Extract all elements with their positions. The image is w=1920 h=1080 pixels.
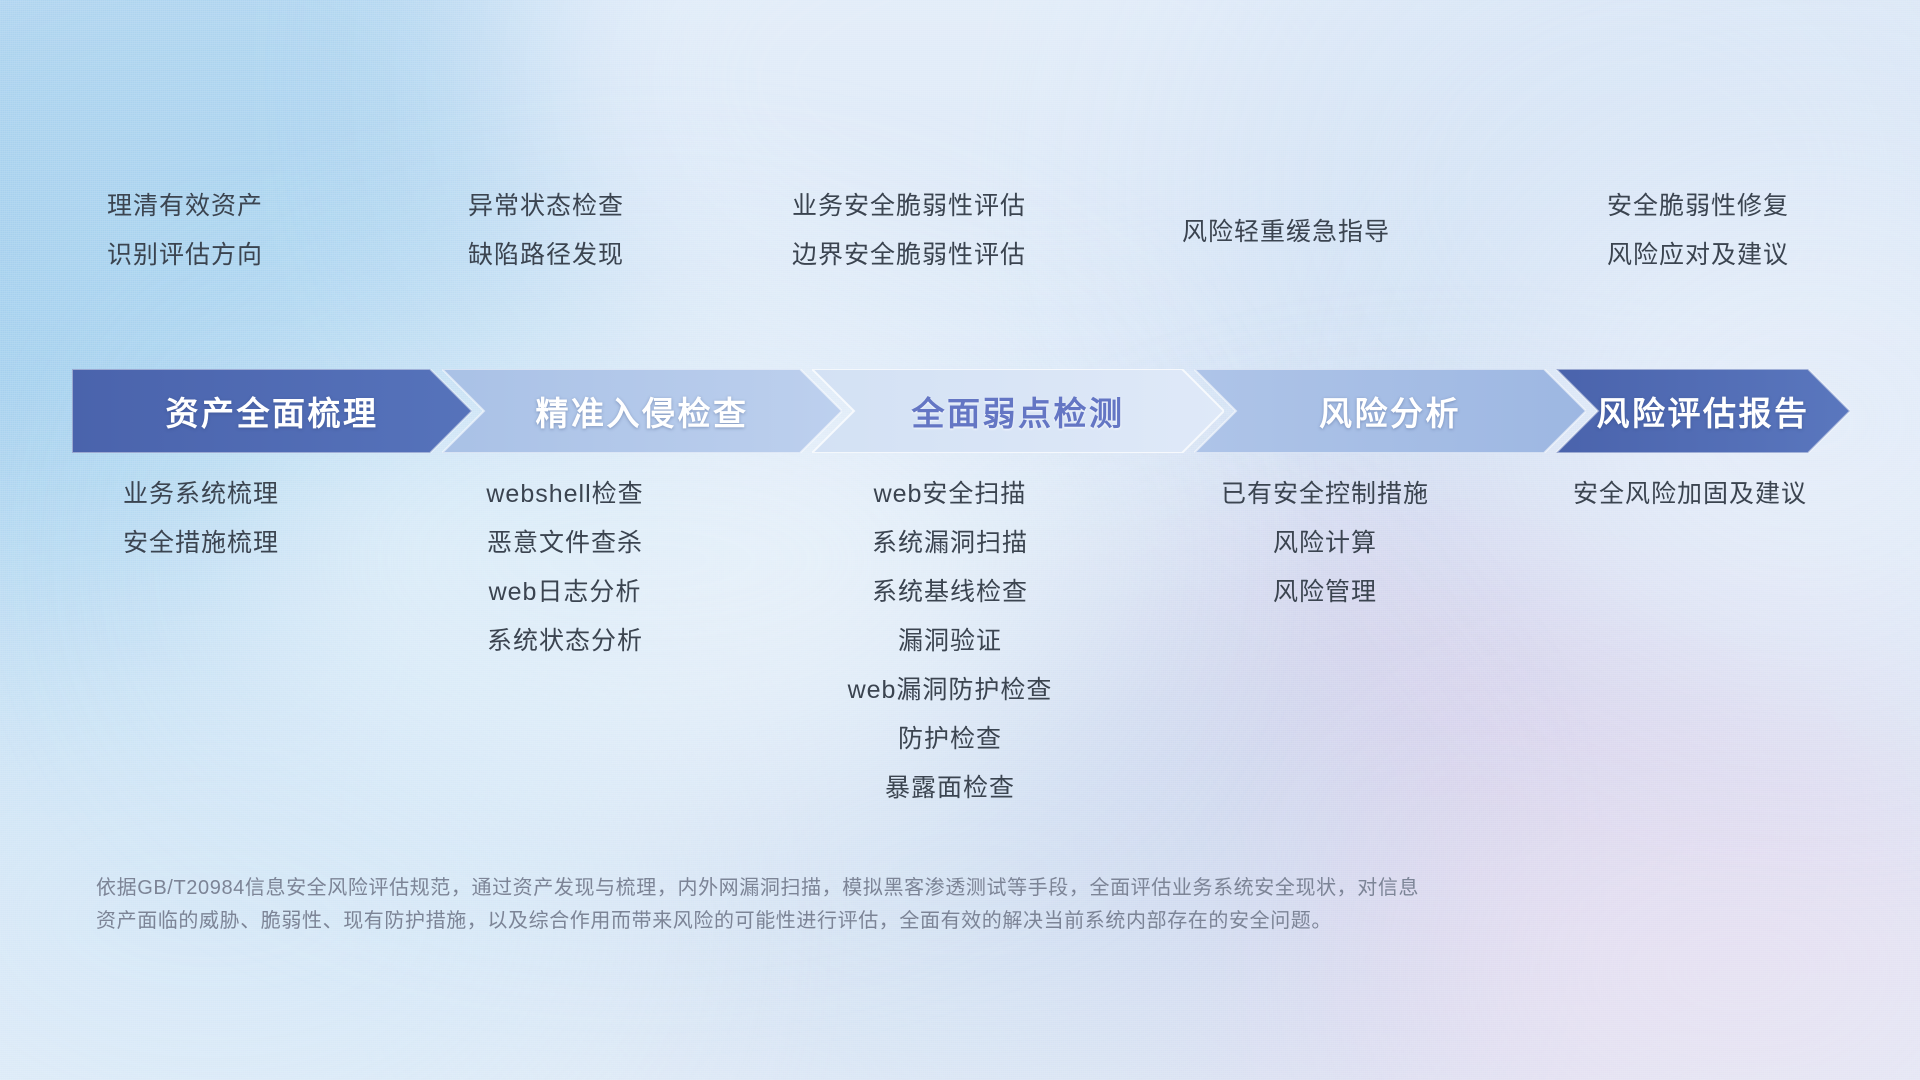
caption-line: 风险应对及建议 [1607,231,1789,280]
chevron-label: 精准入侵检查 [536,387,749,435]
list-item: 防护检查 [760,715,1140,764]
list-item: 风险管理 [1135,568,1515,617]
top-captions-stage-1: 理清有效资产 识别评估方向 [0,182,370,292]
list-item: 安全风险加固及建议 [1490,470,1890,519]
list-item: 恶意文件查杀 [400,519,730,568]
caption-line: 异常状态检查 [468,182,624,231]
caption-line: 安全脆弱性修复 [1607,182,1789,231]
list-item: 系统漏洞扫描 [760,519,1140,568]
stage-chevron-band: 资产全面梳理 精准入侵检查 [72,369,1850,453]
bottom-list-stage-4: 已有安全控制措施 风险计算 风险管理 [1135,470,1515,617]
top-captions-stage-2: 异常状态检查 缺陷路径发现 [370,182,722,292]
chevron-label: 风险分析 [1319,387,1461,435]
bottom-list-stage-3: web安全扫描 系统漏洞扫描 系统基线检查 漏洞验证 web漏洞防护检查 防护检… [760,470,1140,813]
bottom-list-stage-5: 安全风险加固及建议 [1490,470,1890,519]
list-item: 暴露面检查 [760,764,1140,813]
list-item: web漏洞防护检查 [760,666,1140,715]
bottom-list-stage-1: 业务系统梳理 安全措施梳理 [36,470,366,568]
caption-line: 缺陷路径发现 [468,231,624,280]
process-flow-diagram: 理清有效资产 识别评估方向 异常状态检查 缺陷路径发现 业务安全脆弱性评估 边界… [0,0,1920,1080]
footer-description: 依据GB/T20984信息安全风险评估规范，通过资产发现与梳理，内外网漏洞扫描，… [96,872,1836,938]
chevron-stage-4[interactable]: 风险分析 [1194,369,1586,453]
list-item: 安全措施梳理 [36,519,366,568]
stage-top-captions: 理清有效资产 识别评估方向 异常状态检查 缺陷路径发现 业务安全脆弱性评估 边界… [0,182,1920,292]
footer-line-1: 依据GB/T20984信息安全风险评估规范，通过资产发现与梳理，内外网漏洞扫描，… [96,872,1836,905]
list-item: 业务系统梳理 [36,470,366,519]
chevron-label: 风险评估报告 [1597,387,1810,435]
chevron-stage-2[interactable]: 精准入侵检查 [442,369,842,453]
list-item: web日志分析 [400,568,730,617]
top-captions-stage-3: 业务安全脆弱性评估 边界安全脆弱性评估 [722,182,1096,292]
list-item: 已有安全控制措施 [1135,470,1515,519]
caption-line: 理清有效资产 [107,182,263,231]
chevron-stage-1[interactable]: 资产全面梳理 [72,369,472,453]
list-item: webshell检查 [400,470,730,519]
chevron-label: 全面弱点检测 [912,387,1125,435]
caption-line: 业务安全脆弱性评估 [792,182,1026,231]
bottom-list-stage-2: webshell检查 恶意文件查杀 web日志分析 系统状态分析 [400,470,730,666]
footer-line-2: 资产面临的威胁、脆弱性、现有防护措施，以及综合作用而带来风险的可能性进行评估，全… [96,905,1836,938]
chevron-stage-5[interactable]: 风险评估报告 [1556,369,1850,453]
list-item: 系统基线检查 [760,568,1140,617]
list-item: web安全扫描 [760,470,1140,519]
caption-line: 识别评估方向 [107,231,263,280]
list-item: 系统状态分析 [400,617,730,666]
caption-line: 风险轻重缓急指导 [1182,208,1390,257]
list-item: 漏洞验证 [760,617,1140,666]
chevron-stage-3[interactable]: 全面弱点检测 [812,369,1224,453]
top-captions-stage-5: 安全脆弱性修复 风险应对及建议 [1476,182,1920,292]
caption-line: 边界安全脆弱性评估 [792,231,1026,280]
top-captions-stage-4: 风险轻重缓急指导 [1096,182,1476,292]
list-item: 风险计算 [1135,519,1515,568]
chevron-label: 资产全面梳理 [166,387,379,435]
